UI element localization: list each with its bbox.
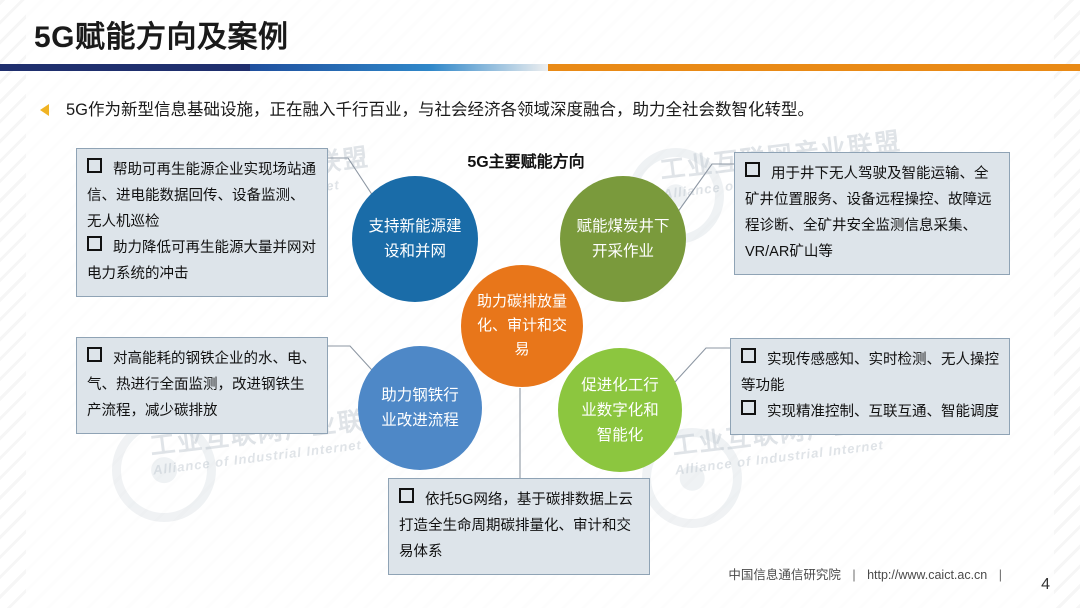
info-item: 实现精准控制、互联互通、智能调度 bbox=[741, 399, 999, 425]
info-item-text: 帮助可再生能源企业实现场站通信、进电能数据回传、设备监测、无人机巡检 bbox=[87, 162, 316, 230]
lead-bullet-row: 5G作为新型信息基础设施，正在融入千行百业，与社会经济各领域深度融合，助力全社会… bbox=[40, 96, 1050, 126]
footer-credit: 中国信息通信研究院 | http://www.caict.ac.cn | bbox=[728, 564, 1010, 583]
info-box-steel-detail: 对高能耗的钢铁企业的水、电、气、热进行全面监测，改进钢铁生产流程，减少碳排放 bbox=[76, 337, 328, 434]
square-bullet-icon bbox=[87, 236, 102, 251]
info-box-chemical-detail: 实现传感感知、实时检测、无人操控等功能 实现精准控制、互联互通、智能调度 bbox=[730, 338, 1010, 435]
slide-footer: 中国信息通信研究院 | http://www.caict.ac.cn | 4 bbox=[0, 564, 1080, 590]
bubble-coal-label: 赋能煤炭井下开采作业 bbox=[576, 214, 670, 264]
bullet-triangle-icon bbox=[40, 104, 49, 116]
info-item: 依托5G网络，基于碳排数据上云打造全生命周期碳排量化、审计和交易体系 bbox=[399, 487, 639, 565]
info-item-text: 对高能耗的钢铁企业的水、电、气、热进行全面监测，改进钢铁生产流程，减少碳排放 bbox=[87, 351, 316, 419]
footer-separator: | bbox=[852, 568, 855, 582]
footer-org: 中国信息通信研究院 bbox=[728, 568, 841, 582]
bubble-carbon-core-label: 助力碳排放量化、审计和交易 bbox=[477, 290, 567, 362]
info-item-text: 依托5G网络，基于碳排数据上云打造全生命周期碳排量化、审计和交易体系 bbox=[399, 492, 633, 560]
info-box-coal-detail: 用于井下无人驾驶及智能运输、全矿井位置服务、设备远程操控、故障远程诊断、全矿井安… bbox=[734, 152, 1010, 275]
bubble-chemical[interactable]: 促进化工行业数字化和智能化 bbox=[558, 348, 682, 472]
info-item: 助力降低可再生能源大量并网对电力系统的冲击 bbox=[87, 235, 317, 287]
divider-orange-segment bbox=[548, 64, 1080, 71]
bubble-new-energy-label: 支持新能源建设和并网 bbox=[368, 214, 462, 264]
square-bullet-icon bbox=[399, 488, 414, 503]
divider-blue-gradient-segment bbox=[250, 64, 550, 71]
square-bullet-icon bbox=[741, 400, 756, 415]
diagram-heading-text: 5G主要赋能方向 bbox=[467, 154, 584, 171]
footer-separator: | bbox=[999, 568, 1002, 582]
info-item: 用于井下无人驾驶及智能运输、全矿井位置服务、设备远程操控、故障远程诊断、全矿井安… bbox=[745, 161, 999, 265]
square-bullet-icon bbox=[741, 348, 756, 363]
slide-canvas: 工业互联网产业联盟 Alliance of Industrial Interne… bbox=[0, 0, 1080, 608]
square-bullet-icon bbox=[87, 347, 102, 362]
info-item: 对高能耗的钢铁企业的水、电、气、热进行全面监测，改进钢铁生产流程，减少碳排放 bbox=[87, 346, 317, 424]
info-item-text: 助力降低可再生能源大量并网对电力系统的冲击 bbox=[87, 240, 316, 282]
info-item-text: 实现传感感知、实时检测、无人操控等功能 bbox=[741, 352, 999, 394]
bubble-carbon-core[interactable]: 助力碳排放量化、审计和交易 bbox=[461, 265, 583, 387]
page-title: 5G赋能方向及案例 bbox=[34, 12, 289, 56]
bubble-chemical-label: 促进化工行业数字化和智能化 bbox=[574, 373, 666, 448]
divider-navy-segment bbox=[0, 64, 250, 71]
info-item: 帮助可再生能源企业实现场站通信、进电能数据回传、设备监测、无人机巡检 bbox=[87, 157, 317, 235]
info-item-text: 用于井下无人驾驶及智能运输、全矿井位置服务、设备远程操控、故障远程诊断、全矿井安… bbox=[745, 166, 992, 260]
page-number: 4 bbox=[1041, 576, 1050, 594]
square-bullet-icon bbox=[87, 158, 102, 173]
info-item: 实现传感感知、实时检测、无人操控等功能 bbox=[741, 347, 999, 399]
diagram-region: 5G主要赋能方向 支持新能源建设和并网 赋能煤炭井下开采作业 助力碳排放量化、审… bbox=[0, 130, 1080, 550]
square-bullet-icon bbox=[745, 162, 760, 177]
info-item-text: 实现精准控制、互联互通、智能调度 bbox=[767, 404, 999, 420]
bubble-steel[interactable]: 助力钢铁行业改进流程 bbox=[358, 346, 482, 470]
bubble-new-energy[interactable]: 支持新能源建设和并网 bbox=[352, 176, 478, 302]
info-box-new-energy-detail: 帮助可再生能源企业实现场站通信、进电能数据回传、设备监测、无人机巡检 助力降低可… bbox=[76, 148, 328, 297]
bubble-coal[interactable]: 赋能煤炭井下开采作业 bbox=[560, 176, 686, 302]
footer-url[interactable]: http://www.caict.ac.cn bbox=[867, 568, 987, 582]
lead-bullet-text: 5G作为新型信息基础设施，正在融入千行百业，与社会经济各领域深度融合，助力全社会… bbox=[66, 96, 814, 124]
bubble-steel-label: 助力钢铁行业改进流程 bbox=[374, 383, 466, 433]
title-divider-rule bbox=[0, 64, 1080, 71]
info-box-carbon-detail: 依托5G网络，基于碳排数据上云打造全生命周期碳排量化、审计和交易体系 bbox=[388, 478, 650, 575]
